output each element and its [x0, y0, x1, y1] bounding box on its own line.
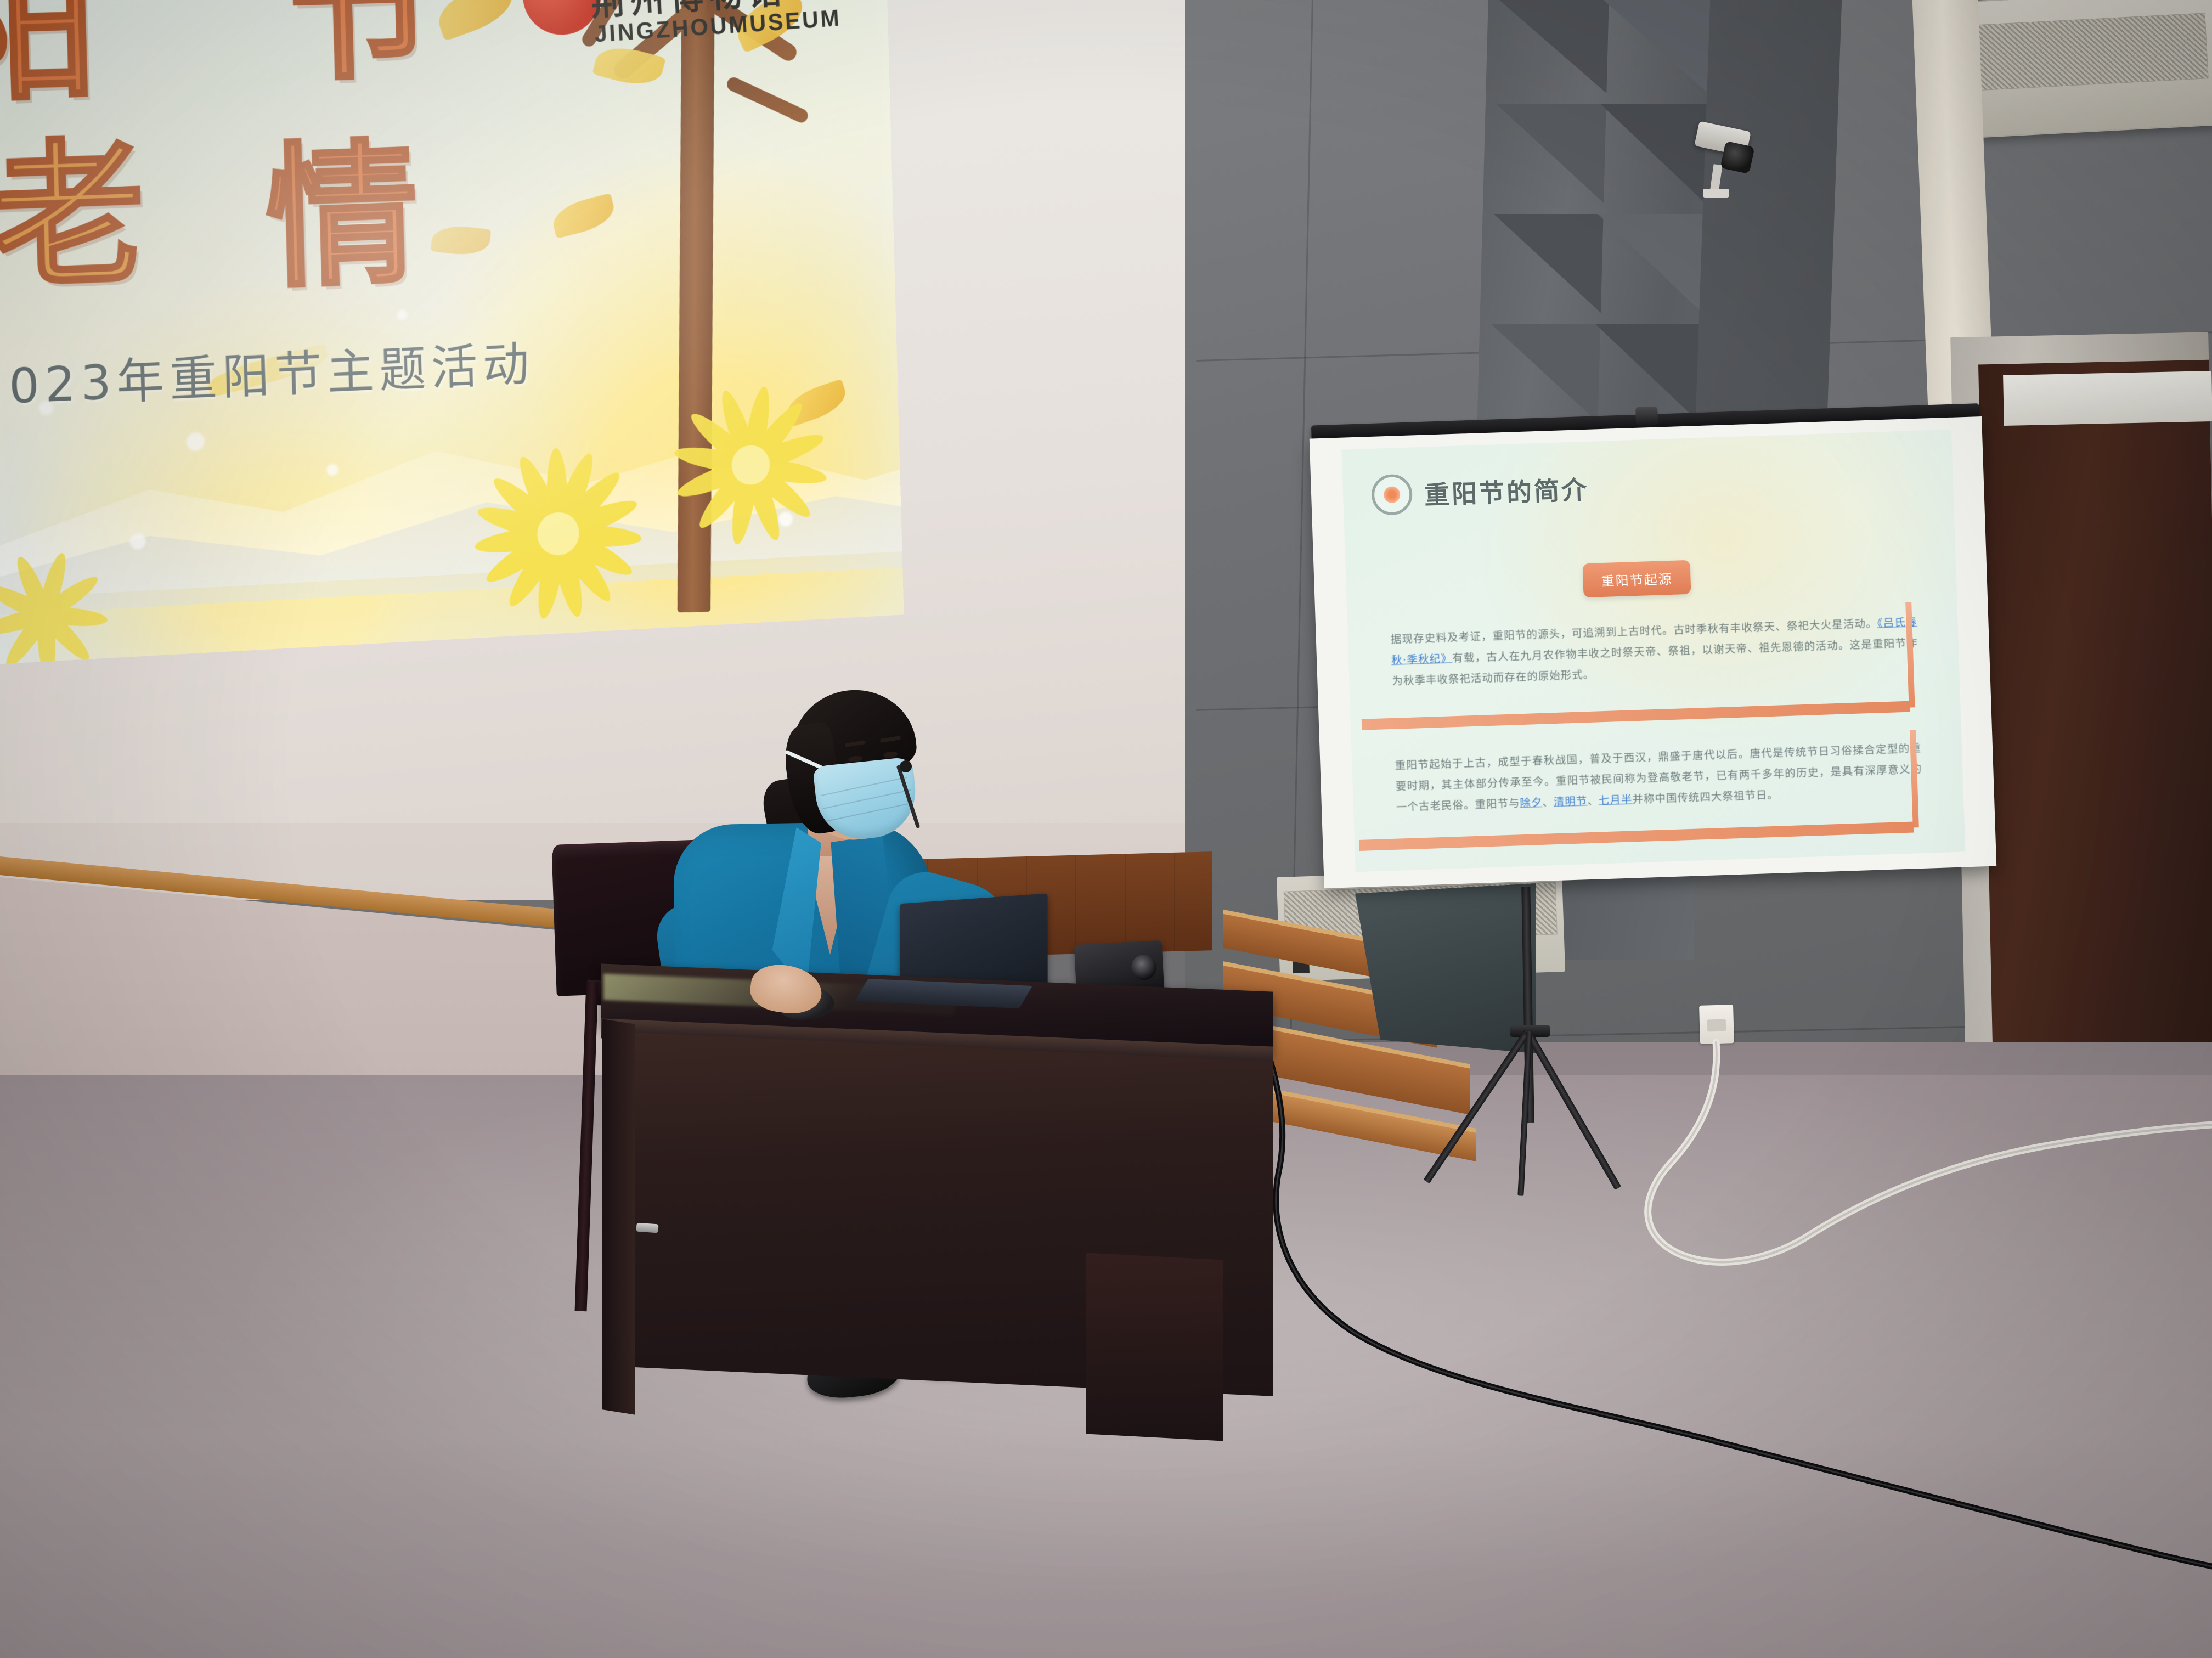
camera-lens: [1720, 141, 1754, 174]
poster-headline-char-1: 阳: [0, 0, 99, 111]
p2-link-3: 七月半: [1599, 793, 1633, 807]
slide-section-pill: 重阳节起源: [1583, 560, 1691, 597]
poster-tree-branch: [725, 75, 810, 125]
projector-lens: [1131, 955, 1156, 980]
door-transom-glass: [2003, 371, 2212, 426]
poster-chrysanthemum: [442, 411, 673, 652]
photo-scene: 阳 节 老 情 2023年重阳节主题活动 荆州博物馆 JINGZHOUMUSEU…: [0, 0, 2212, 1658]
headset-mic-capsule: [900, 760, 912, 772]
p2-post: 并称中国传统四大祭祖节日。: [1632, 788, 1779, 806]
poster-leaf: [431, 223, 492, 257]
poster-headline-char-3: 老: [0, 135, 147, 296]
desk-drawer-handle[interactable]: [636, 1223, 658, 1233]
poster-subtitle: 2023年重阳节主题活动: [0, 326, 535, 419]
slide-paragraph-1-block: 据现存史料及考证，重阳节的源头，可追溯到上古时代。古时季秋有丰收祭天、祭祀大火星…: [1390, 612, 1918, 692]
projected-poster: 阳 节 老 情 2023年重阳节主题活动 荆州博物馆 JINGZHOUMUSEU…: [0, 0, 904, 664]
projection-screen: 重阳节的简介 重阳节起源 据现存史料及考证，重阳节的源头，可追溯到上古时代。古时…: [1309, 403, 1999, 903]
desk-side-panel: [602, 1019, 635, 1415]
desk-pedestal: [1086, 1253, 1223, 1441]
slide-header: 重阳节的简介: [1371, 468, 1589, 516]
slide-paragraph-1: 据现存史料及考证，重阳节的源头，可追溯到上古时代。古时季秋有丰收祭天、祭祀大火星…: [1390, 612, 1918, 692]
slide-rule-1-bottom: [1362, 701, 1910, 730]
slide-rule-2-bottom: [1359, 821, 1914, 851]
camera-base: [1703, 189, 1729, 198]
poster-bokeh: [397, 309, 408, 320]
poster-bokeh: [326, 464, 338, 476]
door[interactable]: [1978, 360, 2212, 1100]
poster-headline-char-2: 节: [280, 0, 436, 89]
chrysanthemum-glyph: [1384, 486, 1401, 503]
screen-surface: 重阳节的简介 重阳节起源 据现存史料及考证，重阳节的源头，可追溯到上古时代。古时…: [1310, 416, 1997, 888]
screen-skirt: [1355, 883, 1536, 1053]
flower-badge-icon: [1371, 473, 1413, 515]
slide-paragraph-2-block: 重阳节起始于上古，成型于春秋战国，普及于西汉，鼎盛于唐代以后。唐代是传统节日习俗…: [1395, 738, 1923, 818]
poster-bokeh: [186, 432, 205, 451]
outlet-socket: [1707, 1019, 1726, 1032]
p1-post: 有载，古人在九月农作物丰收之时祭天帝、祭祖，以谢天帝、祖先恩德的活动。这是重阳节…: [1392, 636, 1918, 687]
p2-link-2: 清明节: [1554, 794, 1588, 808]
presentation-slide: 重阳节的简介 重阳节起源 据现存史料及考证，重阳节的源头，可追溯到上古时代。古时…: [1341, 430, 1965, 872]
poster-leaf: [432, 0, 519, 41]
screen-pull-knob[interactable]: [1635, 407, 1658, 426]
poster-leaf: [550, 193, 618, 239]
slide-paragraph-2: 重阳节起始于上古，成型于春秋战国，普及于西汉，鼎盛于唐代以后。唐代是传统节日习俗…: [1395, 738, 1923, 818]
poster-headline-char-4: 情: [264, 137, 420, 296]
slide-title: 重阳节的简介: [1424, 470, 1589, 512]
p2-link-1: 除夕: [1520, 796, 1543, 809]
